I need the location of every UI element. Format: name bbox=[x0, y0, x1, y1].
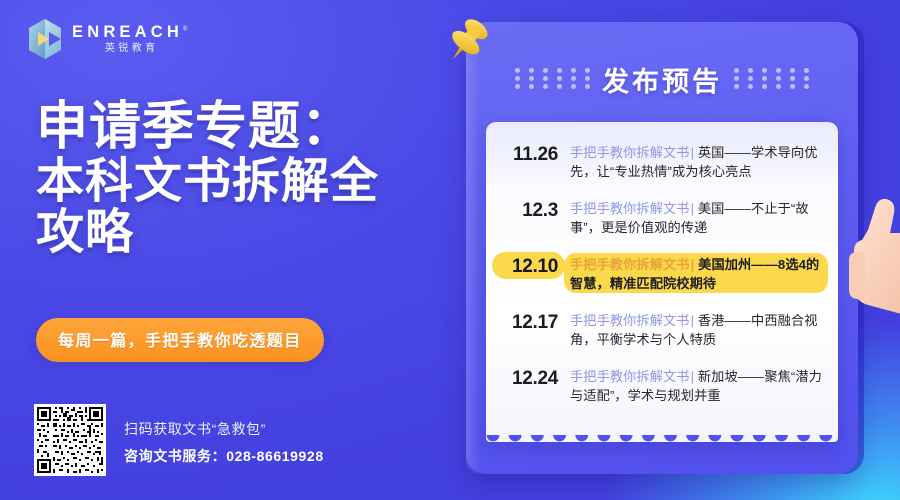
logo-wordmark: ENREACH® bbox=[72, 24, 187, 41]
schedule-row-date: 11.26 bbox=[500, 140, 558, 166]
schedule-row-separator: | bbox=[691, 313, 695, 328]
brand-logo: ENREACH® 英锐教育 bbox=[27, 18, 187, 60]
schedule-row-date: 12.17 bbox=[500, 308, 558, 334]
schedule-panel: 发布预告 11.26手把手教你拆解文书| 英国——学术导向优先，让“专业热情”成… bbox=[466, 22, 858, 474]
qr-caption: 扫码获取文书“急救包” bbox=[124, 419, 324, 439]
page-title: 申请季专题： 本科文书拆解全 攻略 bbox=[36, 100, 456, 258]
qr-contact-block: 扫码获取文书“急救包” 咨询文书服务：028-86619928 bbox=[34, 404, 324, 476]
headline-line-1: 申请季专题： bbox=[36, 100, 456, 156]
schedule-row-tag: 手把手教你拆解文书 bbox=[570, 201, 690, 216]
schedule-row-date: 12.3 bbox=[500, 196, 558, 222]
schedule-row[interactable]: 12.3手把手教你拆解文书| 美国——不止于“故事”，更是价值观的传递 bbox=[486, 190, 838, 246]
promo-banner: ENREACH® 英锐教育 申请季专题： 本科文书拆解全 攻略 每周一篇，手把手… bbox=[0, 0, 900, 500]
schedule-row-body: 手把手教你拆解文书| 新加坡——聚焦“潜力与适配”，学术与规划并重 bbox=[570, 364, 824, 405]
qr-code-icon[interactable] bbox=[34, 404, 106, 476]
schedule-row[interactable]: 11.26手把手教你拆解文书| 英国——学术导向优先，让“专业热情”成为核心亮点 bbox=[486, 134, 838, 190]
trademark-symbol: ® bbox=[183, 26, 187, 32]
headline-line-2: 本科文书拆解全 bbox=[36, 156, 456, 207]
schedule-row-body: 手把手教你拆解文书| 美国加州——8选4的智慧，精准匹配院校期待 bbox=[570, 252, 824, 293]
dots-decoration-left bbox=[515, 68, 590, 92]
schedule-row-separator: | bbox=[691, 369, 695, 384]
dots-decoration-right bbox=[734, 68, 809, 92]
scalloped-edge bbox=[486, 432, 838, 442]
schedule-row-body: 手把手教你拆解文书| 美国——不止于“故事”，更是价值观的传递 bbox=[570, 196, 824, 237]
schedule-card: 11.26手把手教你拆解文书| 英国——学术导向优先，让“专业热情”成为核心亮点… bbox=[486, 122, 838, 442]
schedule-row-tag: 手把手教你拆解文书 bbox=[570, 257, 690, 272]
schedule-row[interactable]: 12.17手把手教你拆解文书| 香港——中西融合视角，平衡学术与个人特质 bbox=[486, 302, 838, 358]
tagline-text: 每周一篇，手把手教你吃透题目 bbox=[58, 333, 302, 350]
tagline-pill: 每周一篇，手把手教你吃透题目 bbox=[36, 318, 324, 362]
logo-subtitle: 英锐教育 bbox=[101, 44, 159, 54]
schedule-row[interactable]: 12.10手把手教你拆解文书| 美国加州——8选4的智慧，精准匹配院校期待 bbox=[486, 246, 838, 302]
schedule-row-body: 手把手教你拆解文书| 英国——学术导向优先，让“专业热情”成为核心亮点 bbox=[570, 140, 824, 181]
schedule-row-separator: | bbox=[691, 145, 695, 160]
hexagon-bracket-logo-icon bbox=[27, 18, 63, 60]
contact-phone: 咨询文书服务：028-86619928 bbox=[124, 446, 324, 466]
panel-header: 发布预告 bbox=[466, 60, 858, 99]
panel-title-text: 发布预告 bbox=[602, 60, 722, 99]
schedule-row-separator: | bbox=[691, 201, 695, 216]
schedule-row-date: 12.24 bbox=[500, 364, 558, 390]
schedule-row-tag: 手把手教你拆解文书 bbox=[570, 145, 690, 160]
schedule-row[interactable]: 12.24手把手教你拆解文书| 新加坡——聚焦“潜力与适配”，学术与规划并重 bbox=[486, 358, 838, 414]
logo-wordmark-text: ENREACH bbox=[72, 23, 183, 41]
schedule-row-date: 12.10 bbox=[500, 252, 558, 278]
schedule-row-tag: 手把手教你拆解文书 bbox=[570, 313, 690, 328]
thumbs-up-hand-icon bbox=[832, 178, 900, 328]
headline-line-3: 攻略 bbox=[36, 207, 456, 258]
schedule-row-body: 手把手教你拆解文书| 香港——中西融合视角，平衡学术与个人特质 bbox=[570, 308, 824, 349]
schedule-row-tag: 手把手教你拆解文书 bbox=[570, 369, 690, 384]
schedule-row-separator: | bbox=[691, 257, 695, 272]
schedule-row-list: 11.26手把手教你拆解文书| 英国——学术导向优先，让“专业热情”成为核心亮点… bbox=[486, 134, 838, 414]
